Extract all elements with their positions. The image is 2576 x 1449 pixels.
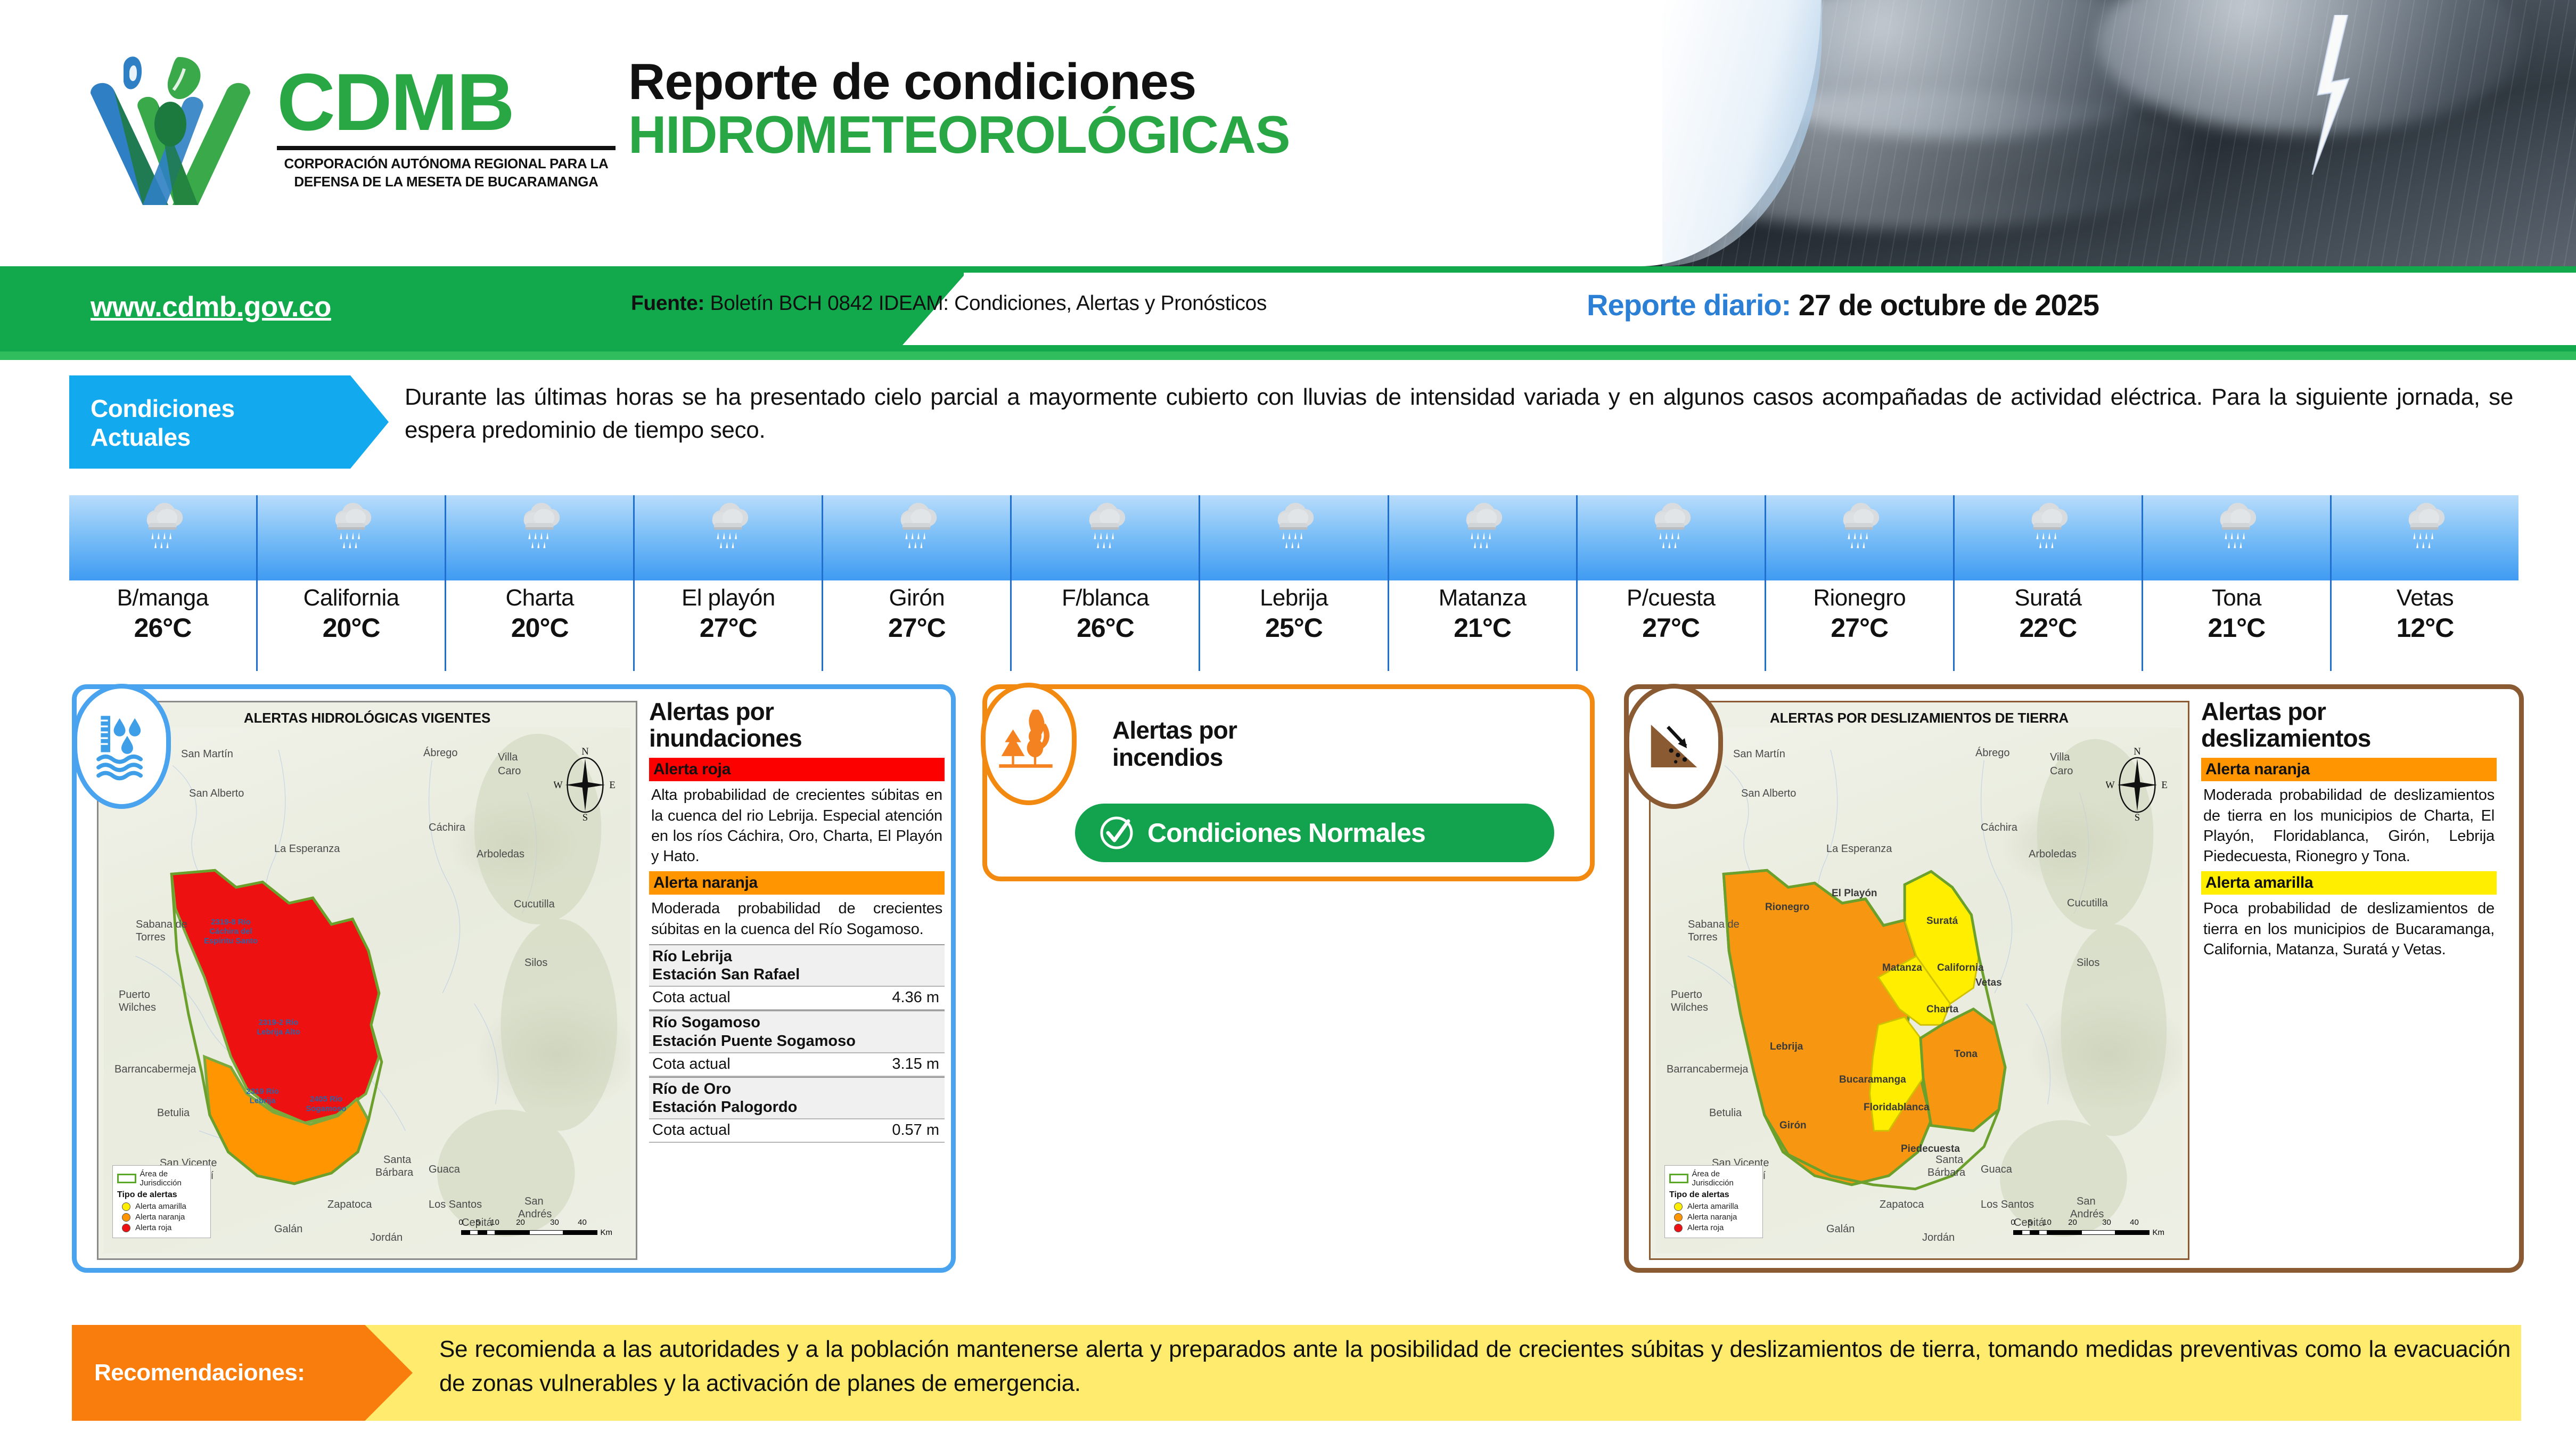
flood-map[interactable]: ALERTAS HIDROLÓGICAS VIGENTES <box>97 701 637 1260</box>
map-town-label: San <box>524 1196 544 1208</box>
current-conditions-tag: Condiciones Actuales <box>69 375 389 469</box>
flood-map-legend: Área de Jurisdicción Tipo de alertas Ale… <box>112 1165 211 1238</box>
svg-text:2319-2 Río: 2319-2 Río <box>259 1019 299 1027</box>
map-town-label: Sabana de <box>1688 919 1740 931</box>
svg-text:Lebrija Alto: Lebrija Alto <box>257 1028 300 1036</box>
scale-tick: 40 <box>2124 1218 2145 1227</box>
flood-badge <box>72 684 171 809</box>
svg-text:W: W <box>2106 780 2115 791</box>
fire-panel-title-line2: incendios <box>1112 744 1237 771</box>
source-citation: Fuente: Boletín BCH 0842 IDEAM: Condicio… <box>631 292 1267 315</box>
legend-item: Alerta roja <box>122 1223 206 1232</box>
map-municipality-label: Piedecuesta <box>1901 1143 1960 1155</box>
legend-label: Alerta amarilla <box>1687 1202 1738 1211</box>
flood-alert-level-orange: Alerta naranja <box>649 871 945 895</box>
map-town-label: Torres <box>136 931 166 944</box>
station-row: Cota actual 3.15 m <box>649 1052 945 1077</box>
rain-cloud-icon <box>891 500 942 555</box>
scale-tick: 10 <box>2039 1218 2056 1227</box>
legend-jurisdiction-swatch <box>117 1174 136 1183</box>
source-text: Boletín BCH 0842 IDEAM: Condiciones, Ale… <box>710 292 1266 315</box>
weather-icon-box <box>258 495 445 580</box>
legend-dot-red <box>1674 1224 1683 1232</box>
temperature-cell: Suratá22°C <box>1955 495 2143 671</box>
report-date-value: 27 de octubre de 2025 <box>1799 288 2099 322</box>
page-header: CDMB CORPORACIÓN AUTÓNOMA REGIONAL PARA … <box>0 0 2576 266</box>
landslide-alert-text-orange: Moderada probabilidad de deslizamientos … <box>2201 781 2497 871</box>
flood-map-canvas: 2319-8 Río Cáchira del Espíritu Santo 23… <box>104 728 630 1253</box>
map-town-label: Guaca <box>1981 1164 2012 1176</box>
temperature-cell: Matanza21°C <box>1389 495 1578 671</box>
flood-map-scalebar: 0 5 10 20 30 40 Km <box>461 1218 613 1237</box>
rain-cloud-icon <box>703 500 754 555</box>
flood-map-title: ALERTAS HIDROLÓGICAS VIGENTES <box>99 710 636 726</box>
svg-text:W: W <box>554 780 563 791</box>
temperature-city-label: El playón <box>635 585 822 611</box>
scale-tick: 5 <box>2022 1218 2039 1227</box>
temperature-cell: Lebrija25°C <box>1200 495 1389 671</box>
scale-tick: 0 <box>2005 1218 2022 1227</box>
legend-item: Alerta amarilla <box>1674 1202 1758 1211</box>
map-municipality-label: El Playón <box>1832 888 1877 899</box>
weather-icon-box <box>823 495 1010 580</box>
station-metric-value: 0.57 m <box>892 1121 939 1139</box>
map-town-label: Ábrego <box>423 747 458 759</box>
legend-item: Alerta naranja <box>122 1213 206 1222</box>
station-metric-label: Cota actual <box>652 989 731 1006</box>
map-town-label: Galán <box>1826 1223 1855 1235</box>
recommendations-tag: Recomendaciones: <box>72 1325 413 1421</box>
weather-icon-box <box>1578 495 1765 580</box>
rain-cloud-icon <box>326 500 377 555</box>
station-name: Estación San Rafael <box>652 965 941 984</box>
map-town-label: Galán <box>274 1223 302 1235</box>
temperature-cell: Charta20°C <box>446 495 635 671</box>
map-town-label: Zapatoca <box>1880 1199 1924 1211</box>
legend-label: Alerta roja <box>135 1223 171 1232</box>
landslide-alert-text-yellow: Poca probabilidad de deslizamientos de t… <box>2201 895 2497 964</box>
weather-icon-box <box>69 495 256 580</box>
svg-text:2405 Río: 2405 Río <box>310 1095 342 1104</box>
weather-icon-box <box>1012 495 1199 580</box>
legend-title: Tipo de alertas <box>117 1190 206 1200</box>
temperature-value: 25°C <box>1200 612 1387 643</box>
landslide-badge <box>1625 684 1723 809</box>
svg-text:2319-8 Río: 2319-8 Río <box>211 918 251 927</box>
map-town-label: Los Santos <box>429 1199 482 1211</box>
map-town-label: Wilches <box>1671 1002 1708 1014</box>
map-town-label: San Martín <box>1733 748 1785 760</box>
report-title-line1: Reporte de condiciones <box>628 56 1290 108</box>
temperature-city-label: Suratá <box>1955 585 2142 611</box>
svg-text:2319 Río: 2319 Río <box>247 1087 279 1096</box>
landslide-panel-title: Alertas por deslizamientos <box>2201 699 2497 751</box>
map-municipality-label: Charta <box>1926 1004 1958 1016</box>
flood-alerts-panel: ALERTAS HIDROLÓGICAS VIGENTES <box>72 684 956 1273</box>
map-town-label: Cucutilla <box>514 898 555 911</box>
scale-tick: 20 <box>504 1218 538 1227</box>
map-town-label: Wilches <box>119 1002 156 1014</box>
scale-ticks: 0 5 10 20 30 40 <box>461 1218 613 1227</box>
temperature-value: 22°C <box>1955 612 2142 643</box>
map-town-label: Sabana de <box>136 919 187 931</box>
map-municipality-label: Lebrija <box>1770 1041 1803 1053</box>
landslide-alerts-column: Alertas por deslizamientos Alerta naranj… <box>2201 699 2497 1263</box>
station-name: Estación Palogordo <box>652 1098 941 1116</box>
station-name: Estación Puente Sogamoso <box>652 1032 941 1050</box>
station-river: Río de Oro <box>652 1080 941 1098</box>
temperature-cell: El playón27°C <box>635 495 823 671</box>
temperature-value: 27°C <box>1766 612 1953 643</box>
scale-tick: 20 <box>2056 1218 2090 1227</box>
scale-bar: Km <box>2013 1228 2165 1237</box>
station-metric-value: 4.36 m <box>892 989 939 1006</box>
scale-ticks: 0 5 10 20 30 40 <box>2013 1218 2165 1227</box>
station-metric-value: 3.15 m <box>892 1055 939 1073</box>
temperature-city-label: Rionegro <box>1766 585 1953 611</box>
legend-label: Alerta naranja <box>1687 1213 1737 1222</box>
map-town-label: Cáchira <box>429 822 465 834</box>
temperature-value: 27°C <box>1578 612 1765 643</box>
legend-dot-orange <box>1674 1213 1683 1222</box>
station-metric-label: Cota actual <box>652 1055 731 1073</box>
map-municipality-label: Girón <box>1779 1120 1807 1132</box>
svg-text:E: E <box>2161 780 2167 791</box>
scale-tick: 30 <box>2090 1218 2124 1227</box>
map-town-label: Arboledas <box>2029 848 2077 861</box>
weather-icon-box <box>2332 495 2518 580</box>
weather-icon-box <box>1955 495 2142 580</box>
landslide-icon <box>1643 716 1705 777</box>
flood-alert-text-red: Alta probabilidad de crecientes súbitas … <box>649 781 945 871</box>
map-town-label: San Alberto <box>189 788 244 800</box>
flood-alert-text-orange: Moderada probabilidad de crecientes súbi… <box>649 895 945 944</box>
legend-title: Tipo de alertas <box>1669 1190 1758 1200</box>
scale-tick: 0 <box>453 1218 470 1227</box>
station-metric-label: Cota actual <box>652 1121 731 1139</box>
station-river: Río Sogamoso <box>652 1013 941 1032</box>
legend-item: Alerta amarilla <box>122 1202 206 1211</box>
legend-item: Alerta naranja <box>1674 1213 1758 1222</box>
temperature-cell: Tona21°C <box>2143 495 2332 671</box>
map-town-label: Villa <box>498 751 518 764</box>
report-date-label: Reporte diario: <box>1587 288 1791 322</box>
map-municipality-label: Floridablanca <box>1864 1102 1930 1114</box>
map-town-label: Jordán <box>370 1232 403 1244</box>
scale-unit: Km <box>2153 1228 2165 1237</box>
landslide-map-canvas: San Martín San Alberto Ábrego Villa Caro… <box>1656 728 2183 1253</box>
map-town-label: San Alberto <box>1741 788 1796 800</box>
current-conditions-section: Condiciones Actuales Durante las últimas… <box>69 375 2518 471</box>
weather-icon-box <box>1200 495 1387 580</box>
logo-subtitle-line2: DEFENSA DE LA MESETA DE BUCARAMANGA <box>277 173 616 191</box>
temperature-value: 27°C <box>635 612 822 643</box>
station-header: Río Lebrija Estación San Rafael <box>649 944 945 986</box>
fire-badge <box>981 683 1077 805</box>
map-town-label: Villa <box>2050 751 2070 764</box>
weather-icon-box <box>446 495 633 580</box>
map-town-label: Santa <box>383 1154 411 1166</box>
flood-panel-title-line2: inundaciones <box>649 725 945 752</box>
map-town-label: La Esperanza <box>1826 843 1892 855</box>
cdmb-logo-mark-icon <box>75 45 266 216</box>
landslide-map-scalebar: 0 5 10 20 30 40 Km <box>2013 1218 2165 1237</box>
temperature-cell: California20°C <box>258 495 446 671</box>
rain-cloud-icon <box>2399 500 2450 555</box>
flood-panel-title: Alertas por inundaciones <box>649 699 945 751</box>
map-town-label: Jordán <box>1922 1232 1955 1244</box>
map-municipality-label: Tona <box>1954 1049 1978 1060</box>
temperature-value: 27°C <box>823 612 1010 643</box>
temperature-value: 21°C <box>1389 612 1576 643</box>
temperature-cell: Vetas12°C <box>2332 495 2518 671</box>
temperature-value: 26°C <box>1012 612 1199 643</box>
compass-rose-icon: N S W E <box>554 744 617 823</box>
temperature-cell: F/blanca26°C <box>1012 495 1200 671</box>
temperature-city-label: P/cuesta <box>1578 585 1765 611</box>
report-title: Reporte de condiciones HIDROMETEOROLÓGIC… <box>628 56 1290 162</box>
legend-jurisdiction-swatch <box>1669 1174 1688 1183</box>
svg-text:E: E <box>609 780 615 791</box>
legend-label: Alerta naranja <box>135 1213 185 1222</box>
rain-cloud-icon <box>514 500 565 555</box>
map-town-label: Los Santos <box>1981 1199 2034 1211</box>
temperature-value: 20°C <box>446 612 633 643</box>
svg-text:N: N <box>581 746 589 757</box>
weather-icon-box <box>1766 495 1953 580</box>
report-date: Reporte diario: 27 de octubre de 2025 <box>1587 288 2099 322</box>
landslide-map-legend: Área de Jurisdicción Tipo de alertas Ale… <box>1664 1165 1763 1238</box>
map-town-label: San <box>2077 1196 2096 1208</box>
compass-rose-icon: N S W E <box>2106 744 2169 823</box>
legend-item: Alerta roja <box>1674 1223 1758 1232</box>
scale-tick: 5 <box>470 1218 487 1227</box>
scale-tick: 30 <box>538 1218 572 1227</box>
fire-panel-title: Alertas por incendios <box>1112 717 1237 771</box>
legend-dot-yellow <box>122 1202 130 1211</box>
rain-cloud-icon <box>2022 500 2073 555</box>
source-label: Fuente: <box>631 292 704 315</box>
legend-dot-orange <box>122 1213 130 1222</box>
landslide-map-title: ALERTAS POR DESLIZAMIENTOS DE TIERRA <box>1651 710 2188 726</box>
recommendations-text: Se recomienda a las autoridades y a la p… <box>439 1332 2511 1401</box>
map-town-label: Barrancabermeja <box>114 1063 196 1076</box>
map-municipality-label: Matanza <box>1882 962 1922 974</box>
fire-alerts-panel: Alertas por incendios Condiciones Normal… <box>982 684 1595 881</box>
current-conditions-tag-line1: Condiciones <box>91 394 389 423</box>
svg-text:N: N <box>2134 746 2141 757</box>
map-town-label: San Martín <box>181 748 233 760</box>
logo-wordmark: CDMB <box>277 64 618 141</box>
rain-cloud-icon <box>1645 500 1696 555</box>
temperature-city-label: California <box>258 585 445 611</box>
map-municipality-label: Suratá <box>1926 915 1958 927</box>
map-town-label: Guaca <box>429 1164 460 1176</box>
fire-status-badge: Condiciones Normales <box>1075 804 1554 862</box>
map-town-label: Barrancabermeja <box>1667 1063 1748 1076</box>
logo-subtitle-line1: CORPORACIÓN AUTÓNOMA REGIONAL PARA LA <box>277 155 616 173</box>
map-town-label: Bárbara <box>1927 1167 1965 1179</box>
temperature-value: 12°C <box>2332 612 2518 643</box>
legend-label: Alerta roja <box>1687 1223 1724 1232</box>
map-town-label: Betulia <box>1709 1107 1742 1119</box>
cdmb-logo-text: CDMB CORPORACIÓN AUTÓNOMA REGIONAL PARA … <box>277 64 618 191</box>
svg-text:Sogamoso: Sogamoso <box>306 1105 346 1114</box>
water-level-gauge-icon <box>93 710 151 782</box>
temperature-value: 21°C <box>2143 612 2330 643</box>
flood-panel-title-line1: Alertas por <box>649 699 945 725</box>
legend-dot-red <box>122 1224 130 1232</box>
map-town-label: Puerto <box>1671 989 1702 1001</box>
map-town-label: Caro <box>498 765 521 777</box>
temperature-city-label: Lebrija <box>1200 585 1387 611</box>
scale-tick: 40 <box>572 1218 593 1227</box>
temperature-city-label: Tona <box>2143 585 2330 611</box>
temperature-cell: Girón27°C <box>823 495 1012 671</box>
weather-icon-box <box>635 495 822 580</box>
map-town-label: Zapatoca <box>327 1199 372 1211</box>
legend-jurisdiction-row: Área de Jurisdicción <box>117 1169 206 1188</box>
weather-icon-box <box>1389 495 1576 580</box>
report-title-line2: HIDROMETEOROLÓGICAS <box>628 108 1290 162</box>
svg-text:Lebrija: Lebrija <box>250 1097 276 1106</box>
map-town-label: Cáchira <box>1981 822 2017 834</box>
temperature-strip: B/manga26°CCalifornia20°CCharta20°CEl pl… <box>69 495 2518 671</box>
lightning-bolt-icon <box>2273 15 2384 175</box>
svg-text:S: S <box>2135 812 2140 823</box>
temperature-value: 26°C <box>69 612 256 643</box>
map-town-label: Ábrego <box>1975 747 2010 759</box>
temperature-city-label: Vetas <box>2332 585 2518 611</box>
legend-jurisdiction-label: Área de Jurisdicción <box>1692 1169 1759 1188</box>
map-town-label: Silos <box>524 957 547 969</box>
svg-text:S: S <box>583 812 588 823</box>
scale-bar: Km <box>461 1228 613 1237</box>
map-town-label: Arboledas <box>477 848 524 861</box>
map-municipality-label: California <box>1937 962 1984 974</box>
flood-alert-level-red: Alerta roja <box>649 758 945 781</box>
map-town-label: Torres <box>1688 931 1718 944</box>
temperature-city-label: B/manga <box>69 585 256 611</box>
flood-alerts-column: Alertas por inundaciones Alerta roja Alt… <box>649 699 945 1263</box>
fire-panel-title-line1: Alertas por <box>1112 717 1237 744</box>
map-town-label: Cucutilla <box>2067 897 2108 910</box>
legend-dot-yellow <box>1674 1202 1683 1211</box>
temperature-city-label: Matanza <box>1389 585 1576 611</box>
rain-cloud-icon <box>1834 500 1885 555</box>
current-conditions-text: Durante las últimas horas se ha presenta… <box>405 381 2513 447</box>
map-town-label: Puerto <box>119 989 150 1001</box>
scale-tick: 10 <box>487 1218 504 1227</box>
landslide-alert-level-orange: Alerta naranja <box>2201 758 2497 781</box>
map-town-label: Santa <box>1935 1154 1963 1166</box>
map-town-label: Bárbara <box>375 1167 413 1179</box>
landslide-panel-title-line2: deslizamientos <box>2201 725 2497 752</box>
fire-status-label: Condiciones Normales <box>1147 817 1425 848</box>
rain-cloud-icon <box>2211 500 2262 555</box>
station-row: Cota actual 4.36 m <box>649 986 945 1010</box>
legend-label: Alerta amarilla <box>135 1202 186 1211</box>
weather-icon-box <box>2143 495 2330 580</box>
landslide-map[interactable]: ALERTAS POR DESLIZAMIENTOS DE TIERRA <box>1649 701 2189 1260</box>
map-municipality-label: Rionegro <box>1765 902 1809 913</box>
station-row: Cota actual 0.57 m <box>649 1118 945 1143</box>
map-town-label: Silos <box>2077 957 2099 969</box>
landslide-alert-level-yellow: Alerta amarilla <box>2201 871 2497 895</box>
rain-cloud-icon <box>1268 500 1319 555</box>
temperature-cell: Rionegro27°C <box>1766 495 1955 671</box>
check-circle-icon <box>1097 814 1136 852</box>
map-municipality-label: Vetas <box>1975 977 2002 989</box>
legend-jurisdiction-label: Área de Jurisdicción <box>140 1169 207 1188</box>
scale-unit: Km <box>601 1228 613 1237</box>
temperature-value: 20°C <box>258 612 445 643</box>
temperature-city-label: Charta <box>446 585 633 611</box>
rain-cloud-icon <box>1080 500 1131 555</box>
rain-cloud-icon <box>137 500 188 555</box>
svg-text:Cáchira del: Cáchira del <box>209 928 252 936</box>
green-accent-line <box>0 351 2576 360</box>
current-conditions-tag-line2: Actuales <box>91 423 389 452</box>
map-town-label: La Esperanza <box>274 843 340 855</box>
landslide-alerts-panel: ALERTAS POR DESLIZAMIENTOS DE TIERRA <box>1624 684 2524 1273</box>
rain-cloud-icon <box>1457 500 1508 555</box>
temperature-cell: P/cuesta27°C <box>1578 495 1766 671</box>
website-url-link[interactable]: www.cdmb.gov.co <box>91 291 331 323</box>
recommendations-section: Recomendaciones: Se recomienda a las aut… <box>72 1325 2521 1426</box>
station-header: Río Sogamoso Estación Puente Sogamoso <box>649 1010 945 1052</box>
station-river: Río Lebrija <box>652 947 941 965</box>
map-town-label: Caro <box>2050 765 2073 777</box>
legend-jurisdiction-row: Área de Jurisdicción <box>1669 1169 1758 1188</box>
map-town-label: Betulia <box>157 1107 190 1119</box>
landslide-panel-title-line1: Alertas por <box>2201 699 2497 725</box>
forest-fire-icon <box>997 706 1061 782</box>
temperature-cell: B/manga26°C <box>69 495 258 671</box>
map-municipality-label: Bucaramanga <box>1839 1074 1906 1086</box>
temperature-city-label: Girón <box>823 585 1010 611</box>
temperature-city-label: F/blanca <box>1012 585 1199 611</box>
cdmb-logo: CDMB CORPORACIÓN AUTÓNOMA REGIONAL PARA … <box>75 45 623 221</box>
station-header: Río de Oro Estación Palogordo <box>649 1077 945 1118</box>
green-info-bar: www.cdmb.gov.co Fuente: Boletín BCH 0842… <box>0 266 2576 351</box>
svg-text:Espíritu Santo: Espíritu Santo <box>204 937 258 946</box>
